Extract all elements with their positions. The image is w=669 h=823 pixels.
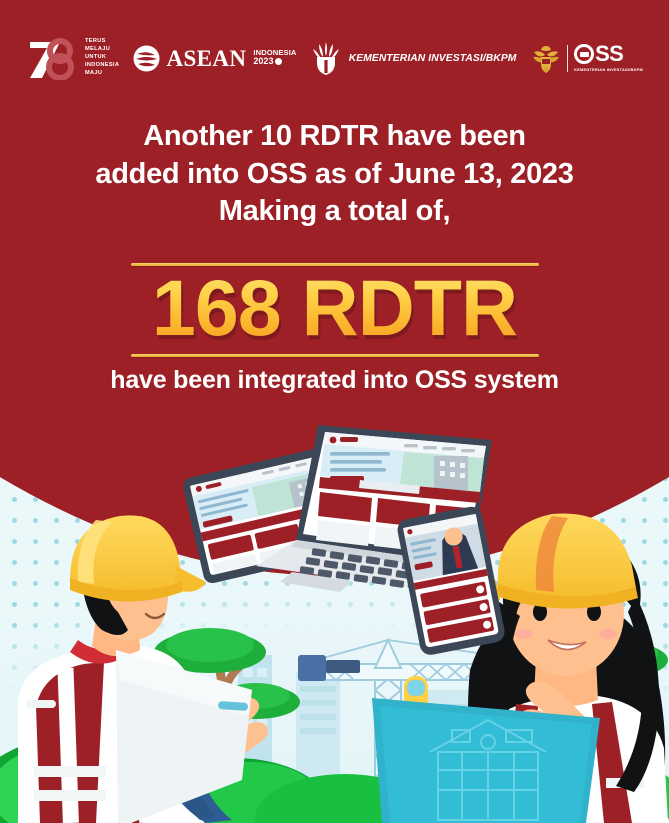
anniversary-logo: TERUS MELAJU UNTUK INDONESIA MAJU: [26, 36, 119, 80]
headline-line-1: Another 10 RDTR have been: [30, 118, 639, 156]
asean-globe-icon: [133, 45, 160, 72]
logo-bar: TERUS MELAJU UNTUK INDONESIA MAJU ASEAN …: [0, 28, 669, 88]
ministry-logo: KEMENTERIAN INVESTASI/BKPM: [311, 41, 517, 75]
oss-o-icon: [574, 44, 594, 64]
garuda-emblem-icon: [531, 43, 561, 74]
anniversary-tagline: TERUS MELAJU UNTUK INDONESIA MAJU: [85, 38, 119, 78]
logo-divider: [567, 45, 568, 72]
page-title: Another 10 RDTR have been added into OSS…: [0, 118, 669, 231]
oss-subtitle: KEMENTERIAN INVESTASI/BKPM: [574, 67, 643, 72]
subline-text: have been integrated into OSS system: [0, 366, 669, 395]
ministry-name: KEMENTERIAN INVESTASI/BKPM: [349, 53, 517, 64]
seventy-eight-icon: [26, 36, 78, 80]
asean-emblem-dot-icon: [275, 58, 282, 65]
asean-subtitle: INDONESIA 2023: [253, 49, 296, 66]
oss-logo: SS KEMENTERIAN INVESTASI/BKPM: [531, 43, 643, 74]
headline-line-3: Making a total of,: [30, 193, 639, 231]
divider-bottom: [131, 354, 539, 357]
infographic-poster: TERUS MELAJU UNTUK INDONESIA MAJU ASEAN …: [0, 0, 669, 823]
headline-line-2: added into OSS as of June 13, 2023: [30, 156, 639, 194]
highlight-number: 168 RDTR: [0, 268, 669, 347]
asean-year: 2023: [253, 57, 296, 66]
asean-wordmark: ASEAN: [166, 47, 246, 70]
asean-logo: ASEAN INDONESIA 2023: [133, 45, 296, 72]
ministry-symbol-icon: [311, 41, 341, 75]
oss-wordmark-block: SS KEMENTERIAN INVESTASI/BKPM: [574, 44, 643, 72]
oss-wordmark: SS: [574, 44, 623, 65]
